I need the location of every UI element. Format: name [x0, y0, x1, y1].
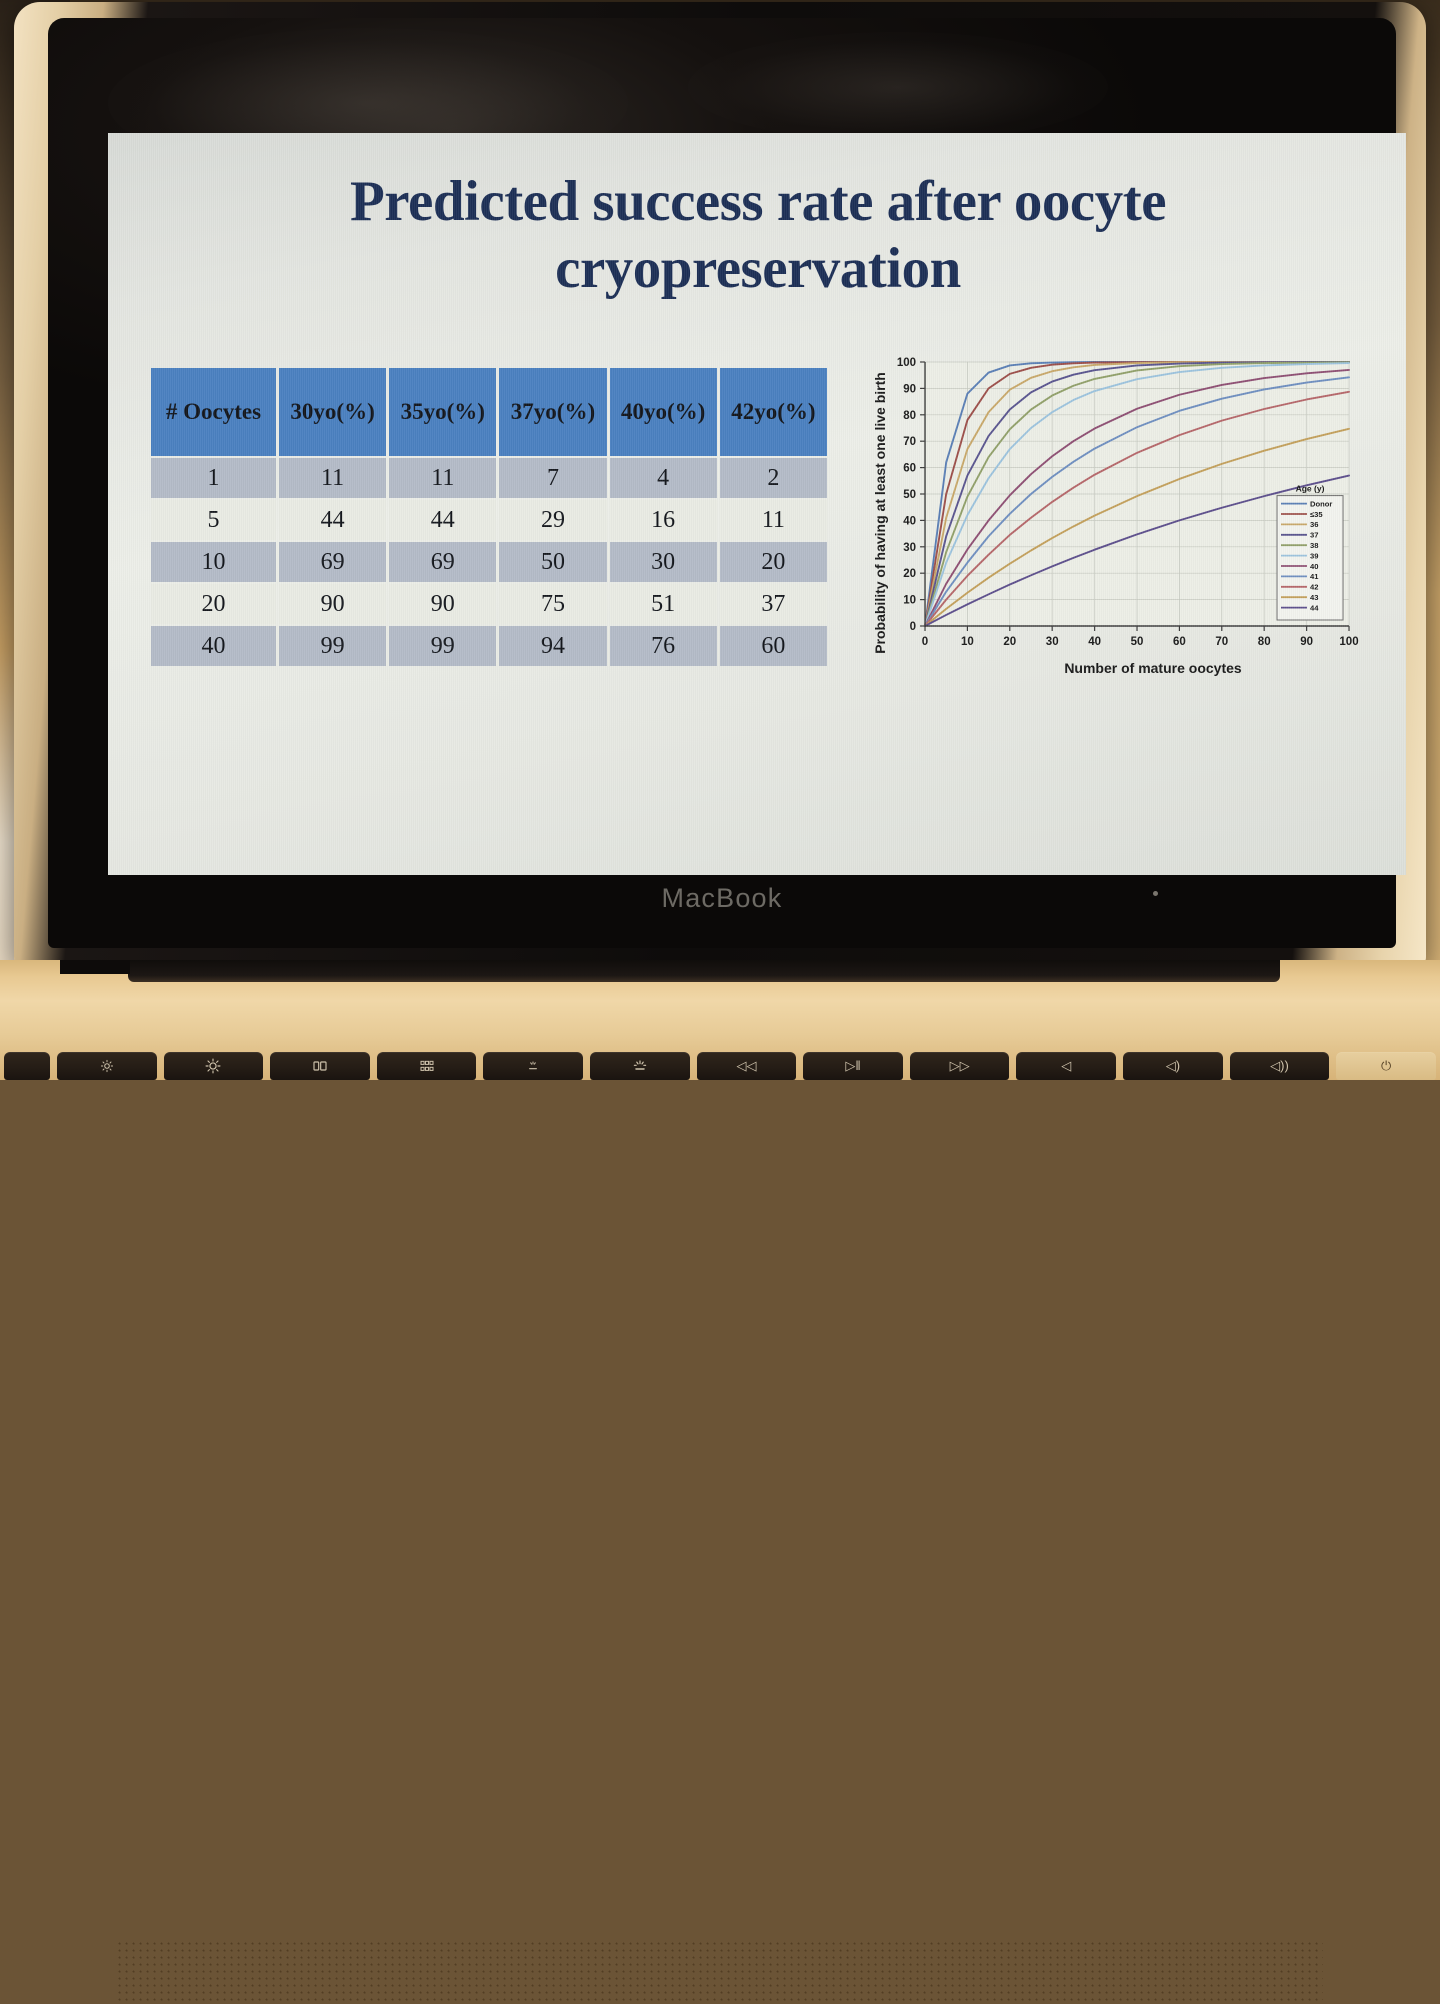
column-header-oocytes: # Oocytes [151, 368, 276, 456]
brightness-down-key[interactable] [57, 1052, 157, 1080]
volume-up-key[interactable]: ◁)) [1230, 1052, 1330, 1080]
cell-35yo: 44 [389, 500, 496, 540]
power-key-glyph: ⏻ [1381, 1058, 1391, 1074]
x-tick-20: 20 [1003, 636, 1016, 648]
backlight-high-icon [632, 1058, 648, 1074]
column-header-30yo: 30yo(%) [279, 368, 386, 456]
cell-40yo: 30 [610, 542, 717, 582]
mission-control-icon [312, 1058, 328, 1074]
column-header-42yo: 42yo(%) [720, 368, 827, 456]
x-tick-0: 0 [922, 636, 928, 648]
x-tick-50: 50 [1131, 636, 1144, 648]
y-tick-0: 0 [910, 621, 916, 633]
laptop-lid: Predicted success rate after oocyte cryo… [14, 2, 1426, 967]
chart-canvas: 0102030405060708090100010203040506070809… [863, 348, 1363, 693]
volume-up-key-glyph: ◁)) [1270, 1058, 1289, 1074]
legend-label-40: 40 [1310, 562, 1318, 571]
cell-oocytes: 20 [151, 584, 276, 624]
cell-30yo: 69 [279, 542, 386, 582]
column-header-40yo: 40yo(%) [610, 368, 717, 456]
x-tick-90: 90 [1300, 636, 1313, 648]
legend-label-43: 43 [1310, 593, 1318, 602]
x-tick-30: 30 [1046, 636, 1059, 648]
cell-oocytes: 40 [151, 626, 276, 666]
mute-key[interactable]: ◁ [1016, 1052, 1116, 1080]
cell-40yo: 16 [610, 500, 717, 540]
legend-title: Age (y) [1296, 484, 1325, 494]
escape-key[interactable] [4, 1052, 50, 1080]
cell-42yo: 20 [720, 542, 827, 582]
fast-forward-key[interactable]: ▷▷ [910, 1052, 1010, 1080]
y-tick-60: 60 [903, 463, 916, 475]
y-tick-90: 90 [903, 383, 916, 395]
cell-37yo: 29 [499, 500, 606, 540]
volume-down-key-glyph: ◁) [1166, 1058, 1180, 1074]
y-axis-label: Probability of having at least one live … [872, 372, 888, 654]
hinge-notch [60, 960, 130, 974]
legend-label-≤35: ≤35 [1310, 510, 1323, 519]
table-row: 10 69 69 50 30 20 [151, 542, 827, 582]
cell-37yo: 75 [499, 584, 606, 624]
column-header-35yo: 35yo(%) [389, 368, 496, 456]
y-tick-20: 20 [903, 568, 916, 580]
legend-label-41: 41 [1310, 572, 1319, 581]
cell-40yo: 76 [610, 626, 717, 666]
cell-oocytes: 5 [151, 500, 276, 540]
cell-42yo: 60 [720, 626, 827, 666]
x-tick-70: 70 [1215, 636, 1228, 648]
mission-control-key[interactable] [270, 1052, 370, 1080]
volume-down-key[interactable]: ◁) [1123, 1052, 1223, 1080]
success-rate-table: # Oocytes 30yo(%) 35yo(%) 37yo(%) 40yo(%… [148, 366, 830, 668]
brightness-low-icon [99, 1058, 115, 1074]
laptop-hinge [128, 960, 1280, 982]
legend-label-Donor: Donor [1310, 499, 1332, 508]
y-tick-50: 50 [903, 489, 916, 501]
table-row: 20 90 90 75 51 37 [151, 584, 827, 624]
cell-oocytes: 10 [151, 542, 276, 582]
y-tick-70: 70 [903, 436, 916, 448]
launchpad-key[interactable] [377, 1052, 477, 1080]
page-title: Predicted success rate after oocyte cryo… [228, 168, 1288, 303]
keyboard-backlight-down-key[interactable] [483, 1052, 583, 1080]
table-row: 1 11 11 7 4 2 [151, 458, 827, 498]
rewind-key[interactable]: ◁◁ [697, 1052, 797, 1080]
cell-37yo: 7 [499, 458, 606, 498]
chart-legend: Age (y)Donor≤35363738394041424344 [1277, 484, 1343, 620]
y-tick-30: 30 [903, 542, 916, 554]
legend-label-39: 39 [1310, 551, 1318, 560]
x-axis-label: Number of mature oocytes [1064, 660, 1242, 676]
table-header-row: # Oocytes 30yo(%) 35yo(%) 37yo(%) 40yo(%… [151, 368, 827, 456]
cell-42yo: 11 [720, 500, 827, 540]
cell-35yo: 90 [389, 584, 496, 624]
launchpad-icon [419, 1058, 435, 1074]
legend-label-38: 38 [1310, 541, 1318, 550]
cell-30yo: 99 [279, 626, 386, 666]
presentation-slide: Predicted success rate after oocyte cryo… [108, 133, 1406, 875]
legend-label-36: 36 [1310, 520, 1318, 529]
indicator-dot-icon [1153, 891, 1158, 896]
mute-key-glyph: ◁ [1061, 1058, 1071, 1074]
cell-37yo: 94 [499, 626, 606, 666]
cell-oocytes: 1 [151, 458, 276, 498]
cell-37yo: 50 [499, 542, 606, 582]
x-tick-60: 60 [1173, 636, 1186, 648]
x-tick-40: 40 [1088, 636, 1101, 648]
screen-glare-top-right [688, 32, 1108, 142]
cell-30yo: 44 [279, 500, 386, 540]
y-tick-10: 10 [903, 595, 916, 607]
legend-label-37: 37 [1310, 531, 1318, 540]
cell-35yo: 69 [389, 542, 496, 582]
table-row: 5 44 44 29 16 11 [151, 500, 827, 540]
cell-35yo: 11 [389, 458, 496, 498]
x-tick-80: 80 [1258, 636, 1271, 648]
y-tick-40: 40 [903, 515, 916, 527]
live-birth-probability-chart: 0102030405060708090100010203040506070809… [863, 348, 1363, 693]
x-tick-10: 10 [961, 636, 974, 648]
function-key-row[interactable]: ◁◁▷‖▷▷◁◁)◁))⏻ [0, 1052, 1440, 1080]
rewind-key-glyph: ◁◁ [736, 1058, 756, 1074]
laptop-screen: Predicted success rate after oocyte cryo… [48, 18, 1396, 948]
y-tick-80: 80 [903, 410, 916, 422]
play-pause-key[interactable]: ▷‖ [803, 1052, 903, 1080]
x-tick-100: 100 [1339, 636, 1358, 648]
cell-30yo: 90 [279, 584, 386, 624]
cell-40yo: 51 [610, 584, 717, 624]
play-pause-key-glyph: ▷‖ [845, 1058, 860, 1074]
brightness-high-icon [205, 1058, 221, 1074]
macbook-branding: MacBook [48, 883, 1396, 914]
legend-label-44: 44 [1310, 603, 1319, 612]
power-key[interactable]: ⏻ [1336, 1052, 1436, 1080]
legend-label-42: 42 [1310, 583, 1318, 592]
backlight-low-icon [525, 1058, 541, 1074]
cell-30yo: 11 [279, 458, 386, 498]
room-background: Predicted success rate after oocyte cryo… [0, 0, 1440, 1080]
keyboard-backlight-up-key[interactable] [590, 1052, 690, 1080]
y-tick-100: 100 [897, 357, 916, 369]
fast-forward-key-glyph: ▷▷ [950, 1058, 970, 1074]
column-header-37yo: 37yo(%) [499, 368, 606, 456]
speaker-grille [118, 1942, 1323, 2004]
cell-42yo: 2 [720, 458, 827, 498]
table-row: 40 99 99 94 76 60 [151, 626, 827, 666]
cell-35yo: 99 [389, 626, 496, 666]
cell-40yo: 4 [610, 458, 717, 498]
brightness-up-key[interactable] [164, 1052, 264, 1080]
cell-42yo: 37 [720, 584, 827, 624]
